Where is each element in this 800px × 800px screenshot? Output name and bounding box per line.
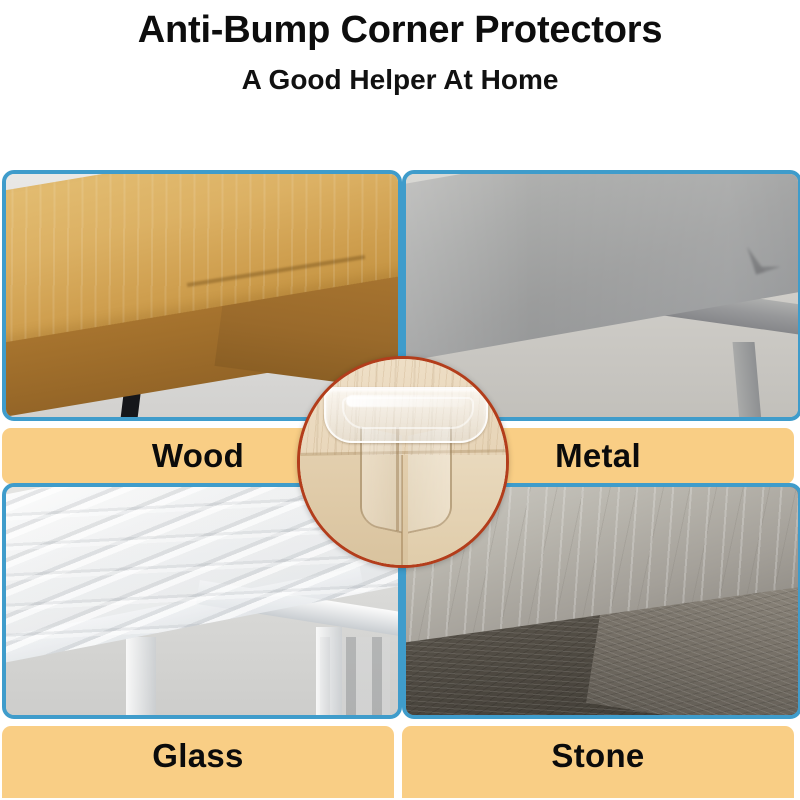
- material-label-glass: Glass: [2, 726, 394, 786]
- protector-top-cap: [324, 387, 488, 443]
- metal-table-top: [406, 174, 798, 369]
- label-band-glass: Glass: [2, 726, 394, 798]
- glass-table-leg: [316, 627, 342, 715]
- label-band-stone: Stone: [402, 726, 794, 798]
- product-infographic: Anti-Bump Corner Protectors A Good Helpe…: [0, 0, 800, 800]
- corner-protector-callout: [297, 356, 509, 568]
- protector-highlight: [346, 395, 466, 407]
- material-label-stone: Stone: [402, 726, 794, 786]
- header: Anti-Bump Corner Protectors A Good Helpe…: [0, 0, 800, 165]
- page-subtitle: A Good Helper At Home: [0, 63, 800, 97]
- glass-table-leg: [126, 637, 156, 715]
- corner-protector-product: [318, 387, 490, 539]
- page-title: Anti-Bump Corner Protectors: [0, 8, 800, 52]
- metal-table-leg: [733, 342, 762, 417]
